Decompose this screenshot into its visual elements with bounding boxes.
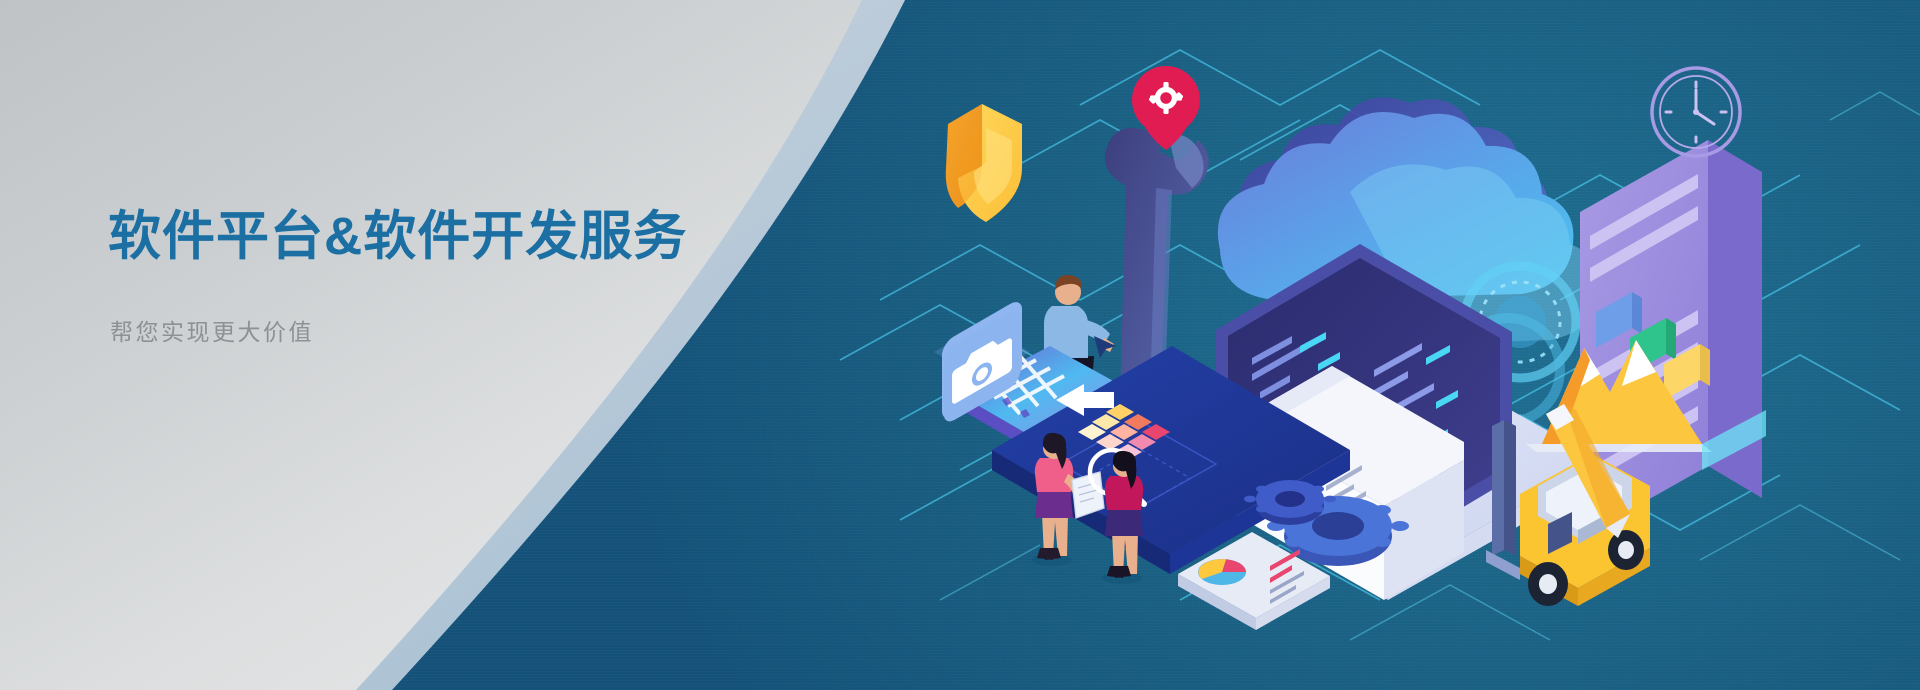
hero-banner: 软件平台&软件开发服务 帮您实现更大价值 [0, 0, 1920, 690]
page-subtitle: 帮您实现更大价值 [110, 313, 868, 347]
page-title: 软件平台&软件开发服务 [108, 206, 868, 269]
hero-copy: 软件平台&软件开发服务 帮您实现更大价值 [108, 206, 868, 347]
